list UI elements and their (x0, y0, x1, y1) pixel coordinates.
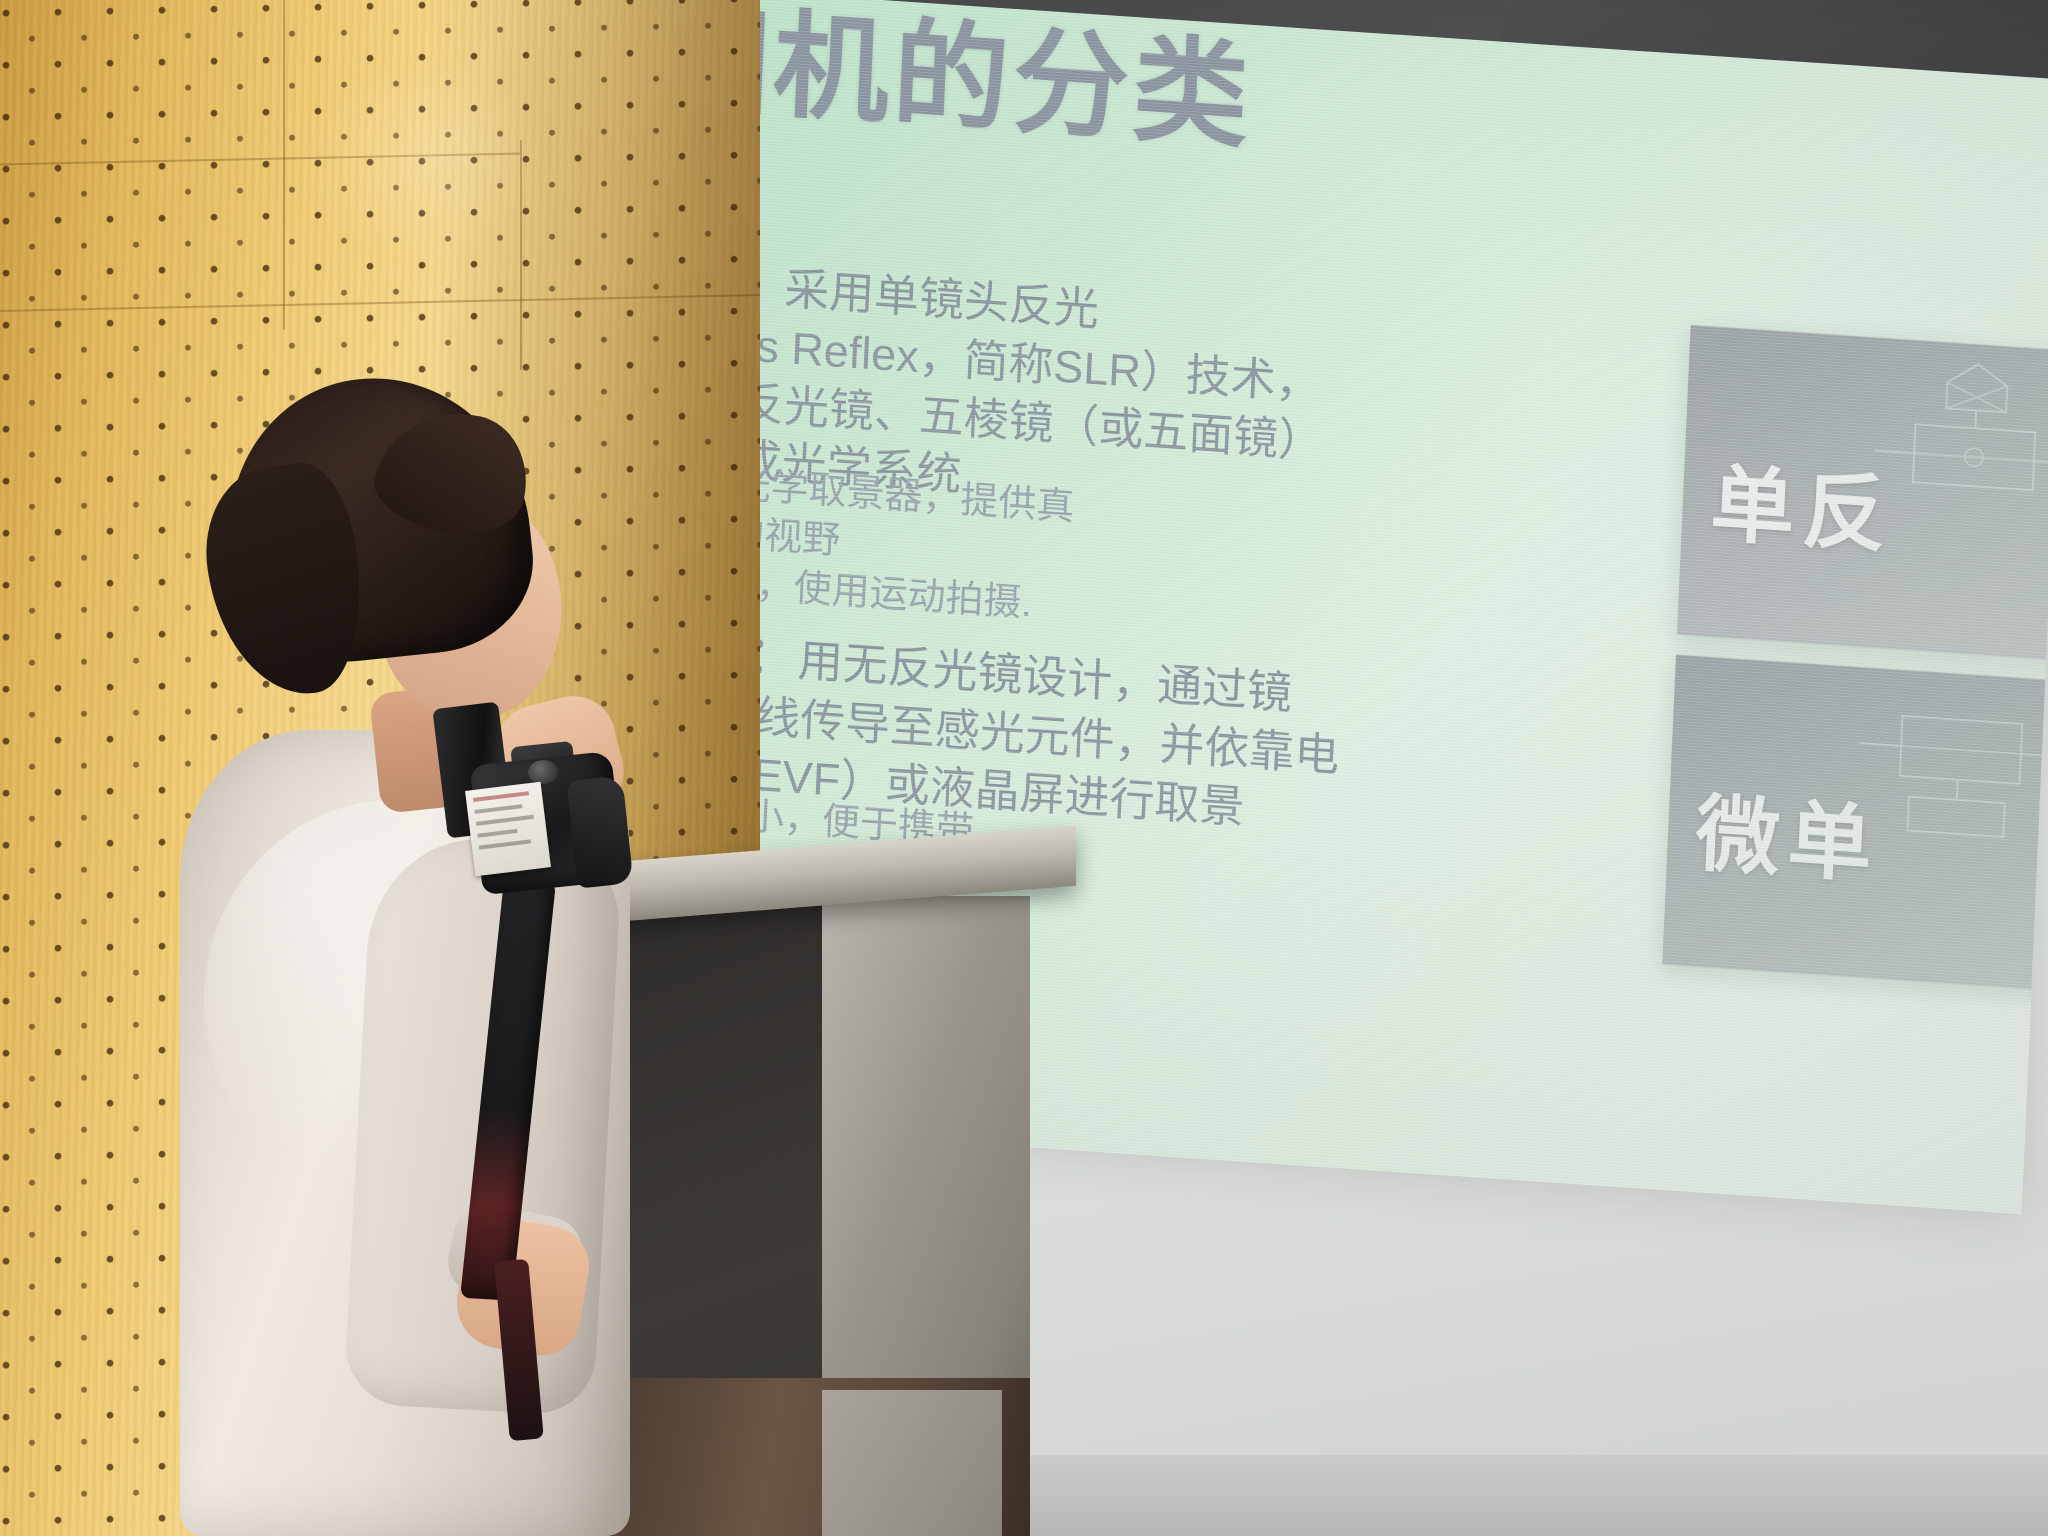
diagram-card-slr-label: 单反 (1708, 437, 1897, 570)
diagram-card-mirrorless-label: 微单 (1694, 766, 1883, 899)
diagram-card-slr: 单反 (1677, 325, 2048, 661)
panel-seam-vertical-1 (283, 0, 285, 330)
camera-grip (567, 775, 634, 888)
lectern-base-side (822, 1390, 1002, 1536)
presenter (170, 370, 730, 1536)
dslr-camera (440, 700, 670, 930)
floor-strip (1020, 1455, 2048, 1536)
diagram-card-mirrorless: 微单 (1662, 655, 2048, 991)
camera-asset-label (465, 782, 551, 877)
presentation-room-photo: 码相机的分类 单反相机：采用单镜头反光 （Single Lens Reflex，… (0, 0, 2048, 1536)
